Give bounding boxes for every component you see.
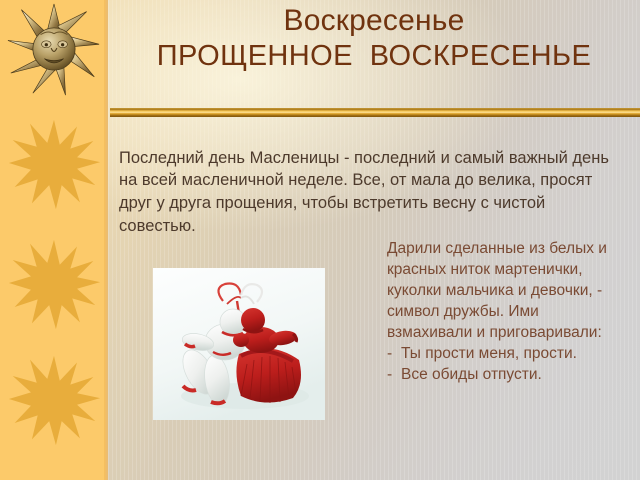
- sun-burst-icon: [6, 236, 102, 332]
- title-line-secondary: ПРОЩЕННОЕ ВОСКРЕСЕНЬЕ: [118, 40, 630, 72]
- title-line-primary: Воскресенье: [118, 4, 630, 38]
- dash-bullet-icon: -: [387, 343, 396, 364]
- list-item: - Все обиды отпусти.: [387, 364, 627, 385]
- slide-title: Воскресенье ПРОЩЕННОЕ ВОСКРЕСЕНЬЕ: [118, 4, 630, 72]
- side-paragraph: Дарили сделанные из белых и красных нито…: [387, 238, 627, 343]
- left-band-edge: [104, 0, 108, 480]
- sun-burst-icon: [6, 352, 102, 448]
- slide-canvas: Воскресенье ПРОЩЕННОЕ ВОСКРЕСЕНЬЕ Послед…: [0, 0, 640, 480]
- list-item-label: Ты прости меня, прости.: [401, 343, 627, 364]
- list-item: - Ты прости меня, прости.: [387, 343, 627, 364]
- dash-bullet-icon: -: [387, 364, 396, 385]
- title-divider-bar: [110, 108, 640, 117]
- main-paragraph: Последний день Масленицы - последний и с…: [119, 147, 619, 238]
- sayings-bullet-list: - Ты прости меня, прости. - Все обиды от…: [387, 343, 627, 385]
- martenitsa-photo: [153, 268, 325, 420]
- list-item-label: Все обиды отпусти.: [401, 364, 627, 385]
- side-text-column: Дарили сделанные из белых и красных нито…: [387, 238, 627, 386]
- sun-burst-icon: [6, 116, 102, 212]
- sun-face-ornament-icon: [6, 2, 102, 98]
